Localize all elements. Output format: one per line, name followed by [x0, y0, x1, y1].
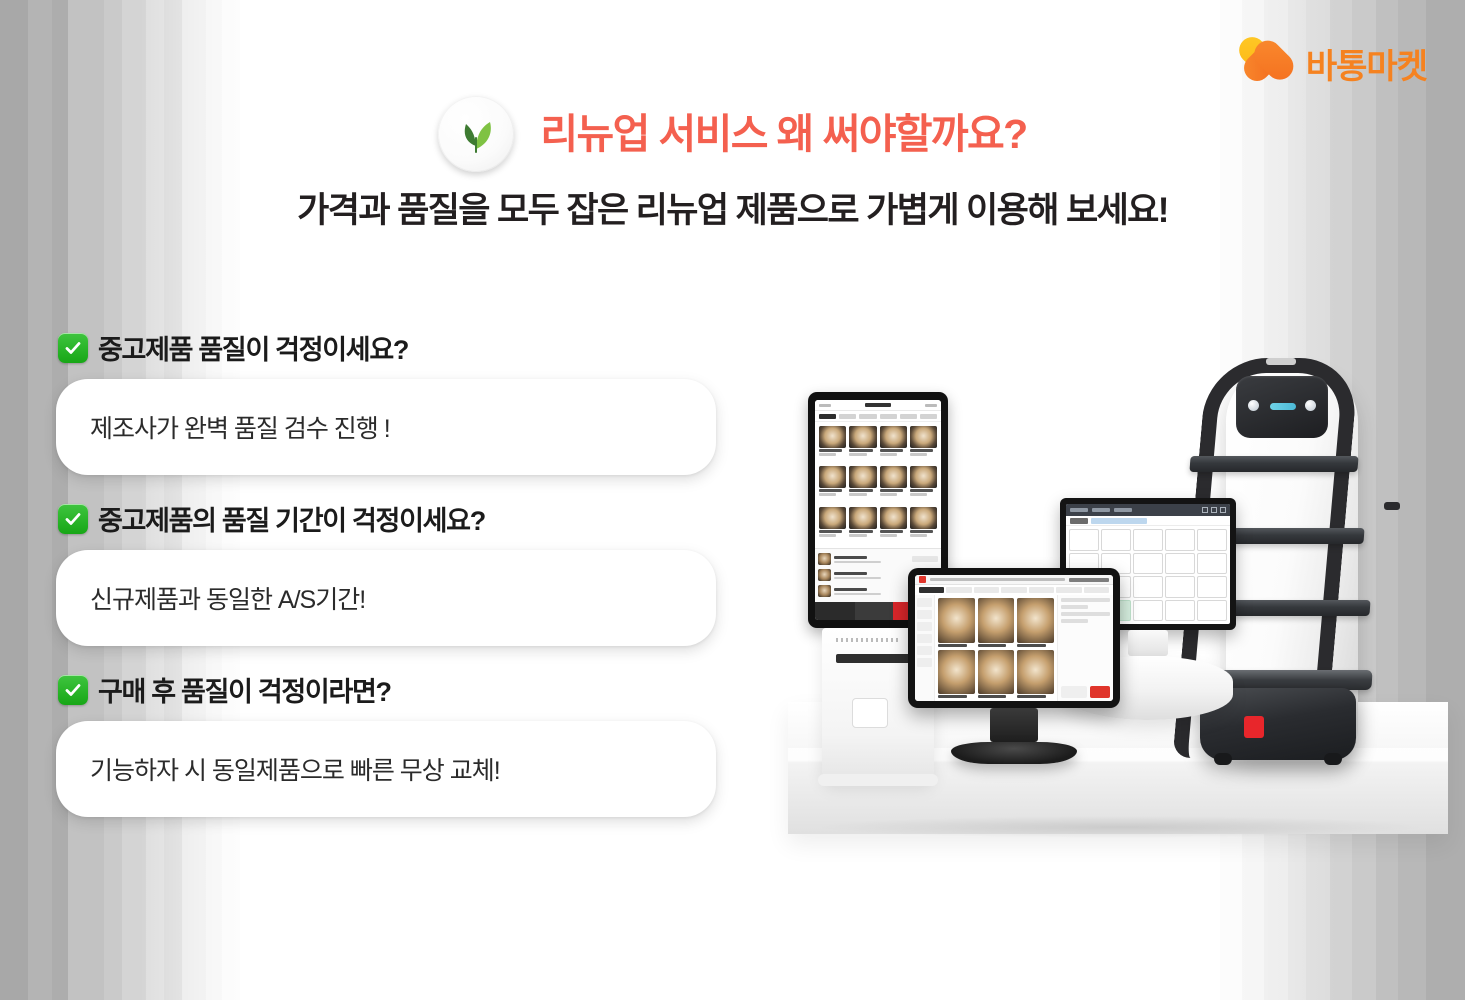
brand-logo[interactable]: 바통마켓: [1238, 38, 1427, 88]
qa-block: 중고제품의 품질 기간이 걱정이세요? 신규제품과 동일한 A/S기간!: [56, 499, 716, 646]
green-check-icon: [58, 333, 88, 363]
pos-tablet-neck: [990, 708, 1038, 742]
qa-question-text: 중고제품의 품질 기간이 걱정이세요?: [98, 499, 485, 538]
qa-question-row: 구매 후 품질이 걱정이라면?: [56, 670, 716, 709]
qa-block: 구매 후 품질이 걱정이라면? 기능하자 시 동일제품으로 빠른 무상 교체!: [56, 670, 716, 817]
title-row: 리뉴업 서비스 왜 써야할까요?: [0, 96, 1465, 172]
robot-eye-right-icon: [1305, 400, 1316, 411]
brand-name: 바통마켓: [1306, 39, 1427, 88]
pos-monitor-neck: [1128, 630, 1168, 656]
pos-tablet-screen: [908, 568, 1120, 708]
pos-tablet-base: [951, 742, 1077, 764]
green-check-icon: [58, 675, 88, 705]
robot-wheel: [1324, 753, 1342, 765]
qa-column: 중고제품 품질이 걱정이세요? 제조사가 완벽 품질 검수 진행 ! 중고제품의…: [56, 328, 716, 841]
qa-answer-card: 신규제품과 동일한 A/S기간!: [56, 550, 716, 646]
robot-antenna: [1266, 358, 1296, 365]
robot-mouth-icon: [1270, 403, 1296, 410]
qa-question-text: 구매 후 품질이 걱정이라면?: [98, 670, 391, 709]
pos-tablet-terminal: [908, 568, 1120, 764]
platform-shadow: [820, 816, 1420, 838]
promo-page: 바통마켓 리뉴업 서비스 왜 써야할까요? 가격과 품질을 모두 잡은 리뉴업 …: [0, 0, 1465, 1000]
qa-block: 중고제품 품질이 걱정이세요? 제조사가 완벽 품질 검수 진행 !: [56, 328, 716, 475]
qa-question-text: 중고제품 품질이 걱정이세요?: [98, 328, 408, 367]
qa-question-row: 중고제품의 품질 기간이 걱정이세요?: [56, 499, 716, 538]
page-subtitle: 가격과 품질을 모두 잡은 리뉴업 제품으로 가볍게 이용해 보세요!: [0, 182, 1465, 233]
qa-answer-text: 신규제품과 동일한 A/S기간!: [90, 580, 365, 616]
page-title: 리뉴업 서비스 왜 써야할까요?: [540, 114, 1026, 155]
qa-answer-text: 제조사가 완벽 품질 검수 진행 !: [90, 409, 390, 445]
robot-eye-left-icon: [1248, 400, 1259, 411]
qa-answer-text: 기능하자 시 동일제품으로 빠른 무상 교체!: [90, 751, 500, 787]
robot-face-display: [1236, 376, 1328, 438]
qa-question-row: 중고제품 품질이 걱정이세요?: [56, 328, 716, 367]
robot-side-handle: [1384, 502, 1400, 510]
baton-heart-icon: [1238, 38, 1294, 88]
robot-wheel: [1214, 753, 1232, 765]
qa-answer-card: 제조사가 완벽 품질 검수 진행 !: [56, 379, 716, 475]
robot-brand-badge: [1244, 716, 1264, 738]
qa-answer-card: 기능하자 시 동일제품으로 빠른 무상 교체!: [56, 721, 716, 817]
robot-tray: [1189, 456, 1358, 472]
receipt-slot-icon: [836, 654, 914, 663]
card-reader-icon: [852, 698, 888, 728]
green-check-icon: [58, 504, 88, 534]
pos-order-button[interactable]: [1090, 686, 1110, 698]
product-lineup-photo: [760, 330, 1460, 910]
leaf-badge-icon: [438, 96, 514, 172]
